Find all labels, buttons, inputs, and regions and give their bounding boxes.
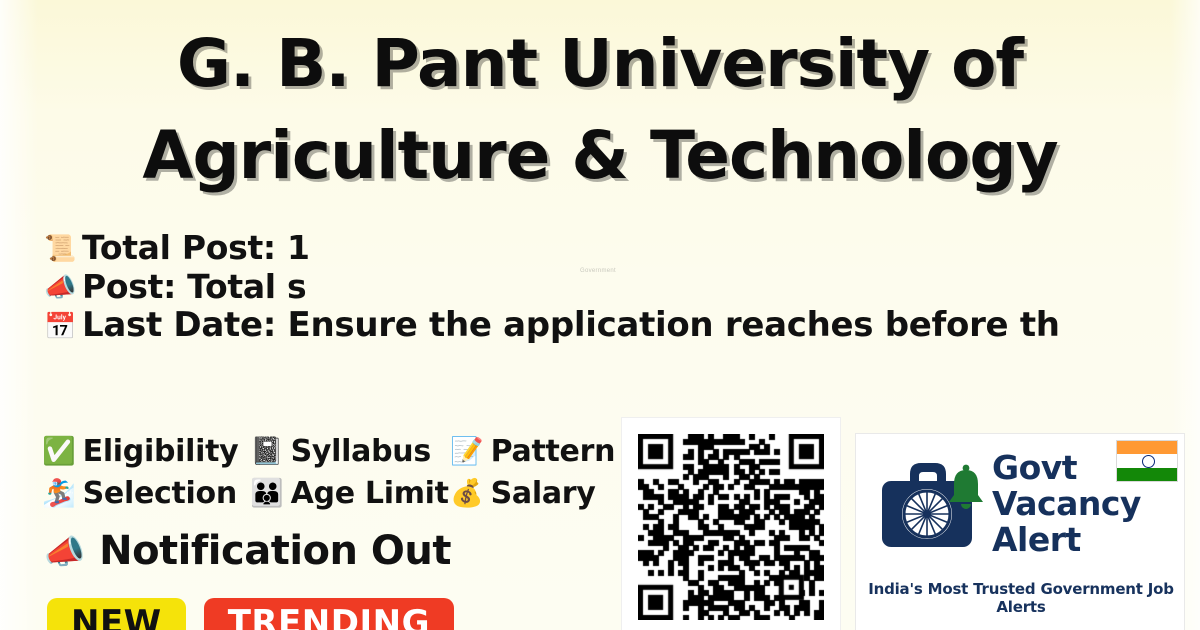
check-mark-icon: ✅ bbox=[42, 438, 76, 465]
background-artifact-text: Government bbox=[580, 268, 616, 274]
title-line-1: G. B. Pant University of bbox=[0, 18, 1200, 110]
info-text-last-date: Last Date: Ensure the application reache… bbox=[82, 306, 1060, 345]
briefcase-icon bbox=[866, 448, 988, 568]
feature-eligibility: ✅ Eligibility bbox=[42, 434, 250, 469]
info-text-post: Post: Total s bbox=[82, 267, 306, 306]
info-text-total-post: Total Post: 1 bbox=[82, 228, 310, 267]
notification-text: Notification Out bbox=[99, 528, 451, 574]
money-bag-icon: 💰 bbox=[450, 480, 484, 507]
feature-label-age-limit: Age Limit bbox=[291, 476, 449, 511]
info-row-total-post: 📜 Total Post: 1 bbox=[44, 228, 1200, 267]
feature-age-limit: 👪 Age Limit bbox=[250, 476, 450, 511]
feature-label-salary: Salary bbox=[491, 476, 596, 511]
feature-label-syllabus: Syllabus bbox=[291, 434, 431, 469]
brand-line-vacancy: Vacancy bbox=[992, 486, 1141, 522]
info-row-last-date: 📅 Last Date: Ensure the application reac… bbox=[44, 306, 1200, 345]
feature-label-selection: Selection bbox=[83, 476, 237, 511]
notification-banner: 📣 Notification Out bbox=[44, 528, 451, 574]
feature-grid: ✅ Eligibility 📓 Syllabus 📝 Pattern 🏂 Sel… bbox=[42, 430, 682, 514]
info-list: 📜 Total Post: 1 📣 Post: Total s 📅 Last D… bbox=[44, 228, 1200, 345]
announcement-icon: 📣 bbox=[44, 535, 85, 568]
megaphone-icon: 📣 bbox=[44, 274, 82, 300]
brand-logo-card: Govt Vacancy Alert India's Most Trusted … bbox=[856, 434, 1184, 630]
qr-code-canvas[interactable] bbox=[638, 434, 824, 620]
exam-paper-icon: 📝 bbox=[450, 438, 484, 465]
info-row-post: 📣 Post: Total s bbox=[44, 267, 1200, 306]
qr-code[interactable] bbox=[638, 434, 824, 620]
page-title: G. B. Pant University of Agriculture & T… bbox=[0, 18, 1200, 202]
brand-line-alert: Alert bbox=[992, 522, 1141, 558]
badge-new: NEW bbox=[47, 598, 186, 630]
badge-trending: TRENDING bbox=[204, 598, 454, 630]
feature-row-1: ✅ Eligibility 📓 Syllabus 📝 Pattern bbox=[42, 430, 682, 472]
feature-selection: 🏂 Selection bbox=[42, 476, 250, 511]
notebook-icon: 📓 bbox=[250, 438, 284, 465]
feature-syllabus: 📓 Syllabus bbox=[250, 434, 450, 469]
poster-canvas: G. B. Pant University of Agriculture & T… bbox=[0, 0, 1200, 630]
feature-label-pattern: Pattern bbox=[491, 434, 616, 469]
india-flag-icon bbox=[1116, 440, 1178, 482]
qr-code-card[interactable] bbox=[622, 418, 840, 630]
title-line-2: Agriculture & Technology bbox=[0, 110, 1200, 202]
feature-label-eligibility: Eligibility bbox=[83, 434, 239, 469]
age-group-icon: 👪 bbox=[250, 480, 284, 507]
scroll-icon: 📜 bbox=[44, 235, 82, 261]
badge-row: NEW TRENDING bbox=[47, 598, 454, 630]
brand-logo-row: Govt Vacancy Alert bbox=[866, 448, 1141, 568]
calendar-icon: 📅 bbox=[44, 313, 82, 339]
feature-row-2: 🏂 Selection 👪 Age Limit 💰 Salary bbox=[42, 472, 682, 514]
brand-tagline: India's Most Trusted Government Job Aler… bbox=[868, 580, 1174, 616]
selection-icon: 🏂 bbox=[42, 480, 76, 507]
